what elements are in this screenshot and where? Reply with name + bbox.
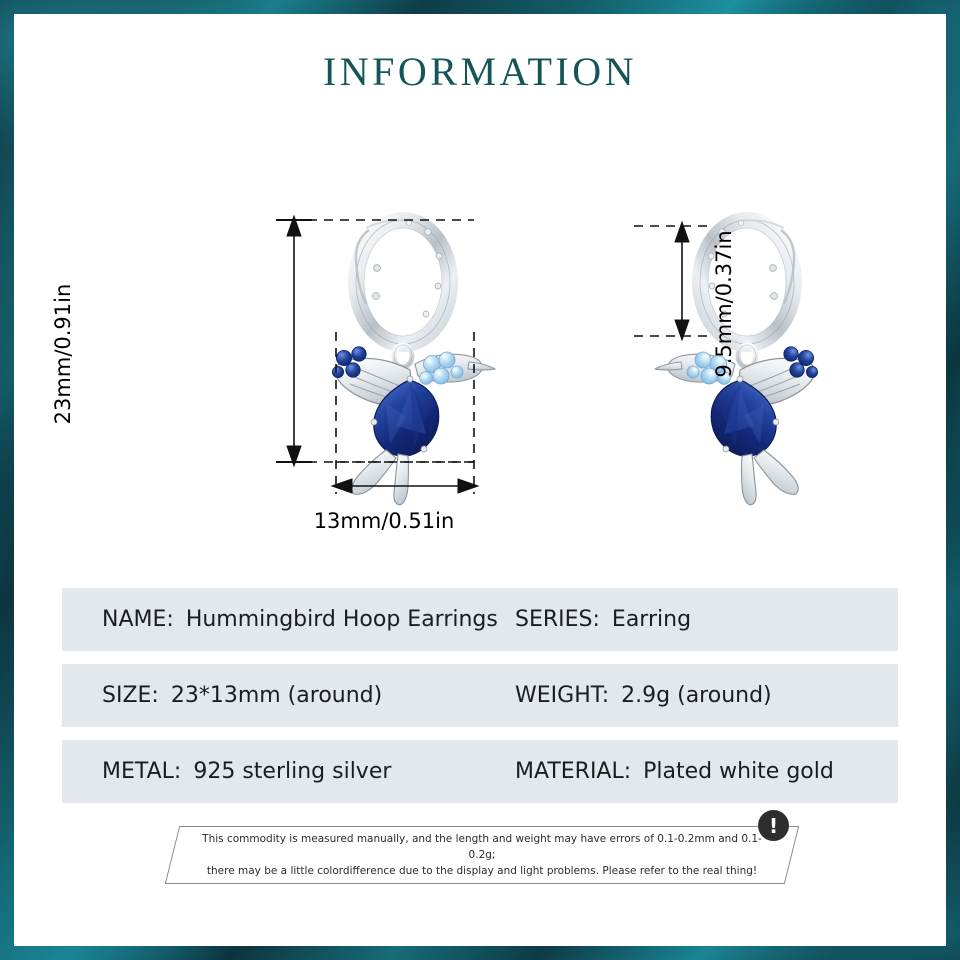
info-cell-material: MATERIAL: Plated white gold	[515, 759, 834, 784]
info-cell-size: SIZE: 23*13mm (around)	[102, 683, 382, 708]
info-value: Hummingbird Hoop Earrings	[186, 607, 498, 632]
table-row: METAL: 925 sterling silver MATERIAL: Pla…	[62, 740, 898, 803]
product-information-table: NAME: Hummingbird Hoop Earrings SERIES: …	[62, 588, 898, 816]
dimension-label-height: 23mm/0.91in	[51, 279, 75, 429]
right-hummingbird-charm	[655, 347, 818, 505]
left-hoop	[356, 220, 450, 344]
info-cell-name: NAME: Hummingbird Hoop Earrings	[102, 607, 498, 632]
info-key: SIZE:	[102, 683, 159, 708]
disclaimer-line-1: This commodity is measured manually, and…	[198, 831, 766, 863]
info-key: NAME:	[102, 607, 174, 632]
right-earring	[655, 220, 818, 505]
table-row: SIZE: 23*13mm (around) WEIGHT: 2.9g (aro…	[62, 664, 898, 727]
product-illustration-area: 23mm/0.91in 9.5mm/0.37in 13mm/0.51in	[14, 164, 946, 584]
disclaimer-line-2: there may be a little colordifference du…	[207, 863, 757, 879]
dimension-label-hoop-height: 9.5mm/0.37in	[712, 224, 736, 384]
info-key: WEIGHT:	[515, 683, 609, 708]
info-key: SERIES:	[515, 607, 600, 632]
info-value: 23*13mm (around)	[171, 683, 382, 708]
info-value: 925 sterling silver	[193, 759, 391, 784]
info-cell-series: SERIES: Earring	[515, 607, 691, 632]
info-cell-weight: WEIGHT: 2.9g (around)	[515, 683, 772, 708]
info-key: MATERIAL:	[515, 759, 631, 784]
warning-icon: !	[758, 810, 789, 841]
dimension-label-width: 13mm/0.51in	[254, 509, 514, 533]
info-value: Plated white gold	[643, 759, 834, 784]
info-cell-metal: METAL: 925 sterling silver	[102, 759, 391, 784]
disclaimer-text: This commodity is measured manually, and…	[172, 826, 792, 884]
information-graphic-page: INFORMATION	[0, 0, 960, 960]
info-value: Earring	[612, 607, 691, 632]
info-key: METAL:	[102, 759, 181, 784]
left-hummingbird-charm	[332, 347, 495, 505]
page-title: INFORMATION	[14, 48, 946, 95]
table-row: NAME: Hummingbird Hoop Earrings SERIES: …	[62, 588, 898, 651]
disclaimer-banner: This commodity is measured manually, and…	[172, 826, 792, 884]
content-canvas: INFORMATION	[14, 14, 946, 946]
info-value: 2.9g (around)	[621, 683, 771, 708]
